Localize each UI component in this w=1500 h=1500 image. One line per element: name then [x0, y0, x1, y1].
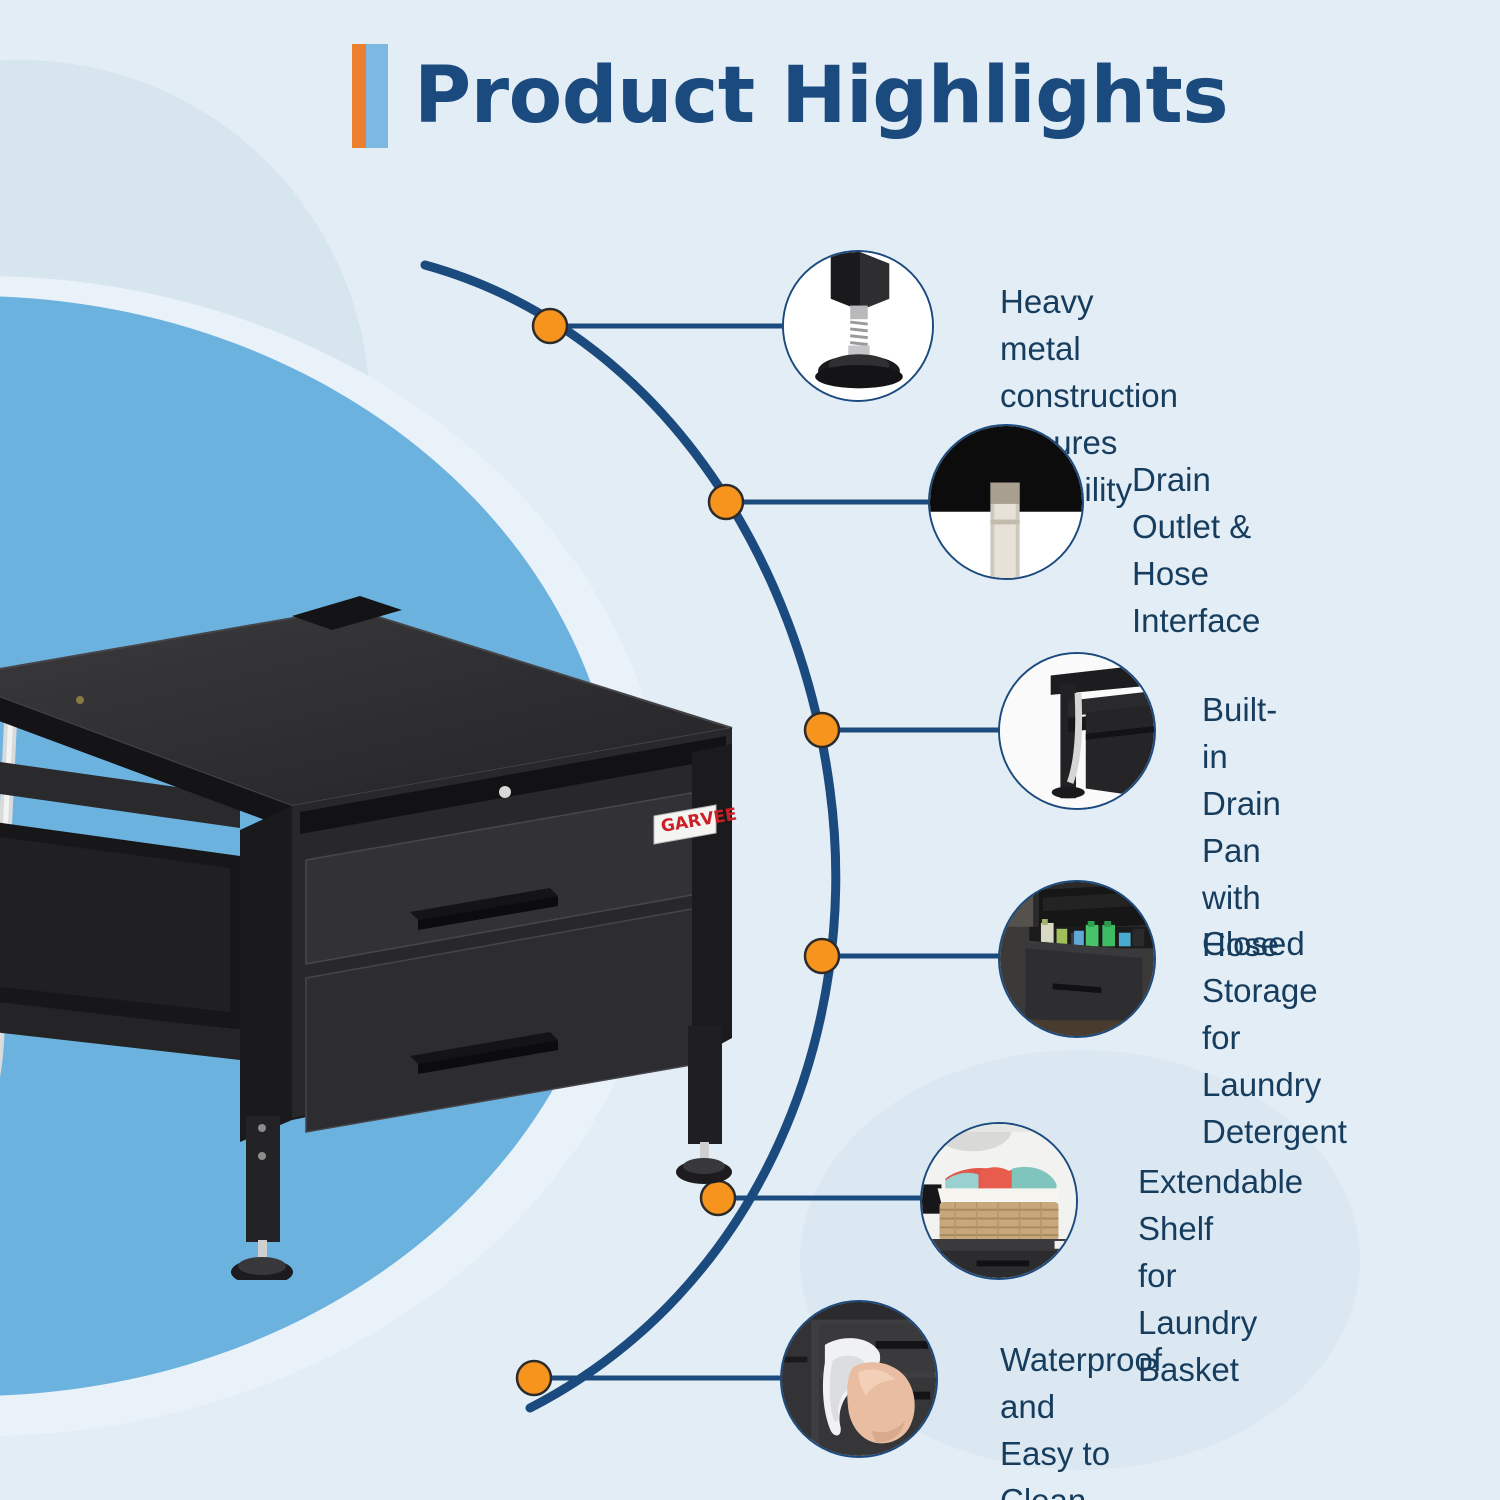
highlight-label-5: Extendable Shelf for Laundry Basket	[1138, 1158, 1303, 1393]
arc-dot-6	[517, 1361, 551, 1395]
adjustable-foot-right	[676, 1142, 732, 1184]
highlight-label-2: Drain Outlet & Hose Interface	[1132, 456, 1260, 644]
title-accent-bar-orange	[352, 44, 366, 148]
top-screw	[499, 786, 511, 798]
page-title-block: Product Highlights	[352, 44, 1228, 148]
hand-wiping-cloth-thumbnail	[780, 1300, 938, 1458]
cabinet-front	[240, 806, 292, 1142]
arc-dot-4	[805, 939, 839, 973]
adjustable-foot-thumbnail	[782, 250, 934, 402]
title-accent-bar-blue	[366, 44, 388, 148]
highlight-label-6: Waterproof and Easy to Clean	[1000, 1336, 1162, 1500]
highlight-label-4: Closed Storage for Laundry Detergent	[1202, 920, 1347, 1155]
adjustable-foot-front	[231, 1240, 293, 1280]
arc-dot-3	[805, 713, 839, 747]
drain-pan	[0, 820, 240, 1030]
product-image: GARVEE	[0, 560, 760, 1280]
open-drawer-detergent-thumbnail	[998, 880, 1156, 1038]
page-title: Product Highlights	[414, 44, 1228, 148]
drain-pan-thumbnail	[998, 652, 1156, 810]
drain-outlet-thumbnail	[928, 424, 1084, 580]
laundry-basket-shelf-thumbnail	[920, 1122, 1078, 1280]
arc-dot-1	[533, 309, 567, 343]
product-highlights-infographic: Product Highlights	[0, 0, 1500, 1500]
arc-dot-2	[709, 485, 743, 519]
